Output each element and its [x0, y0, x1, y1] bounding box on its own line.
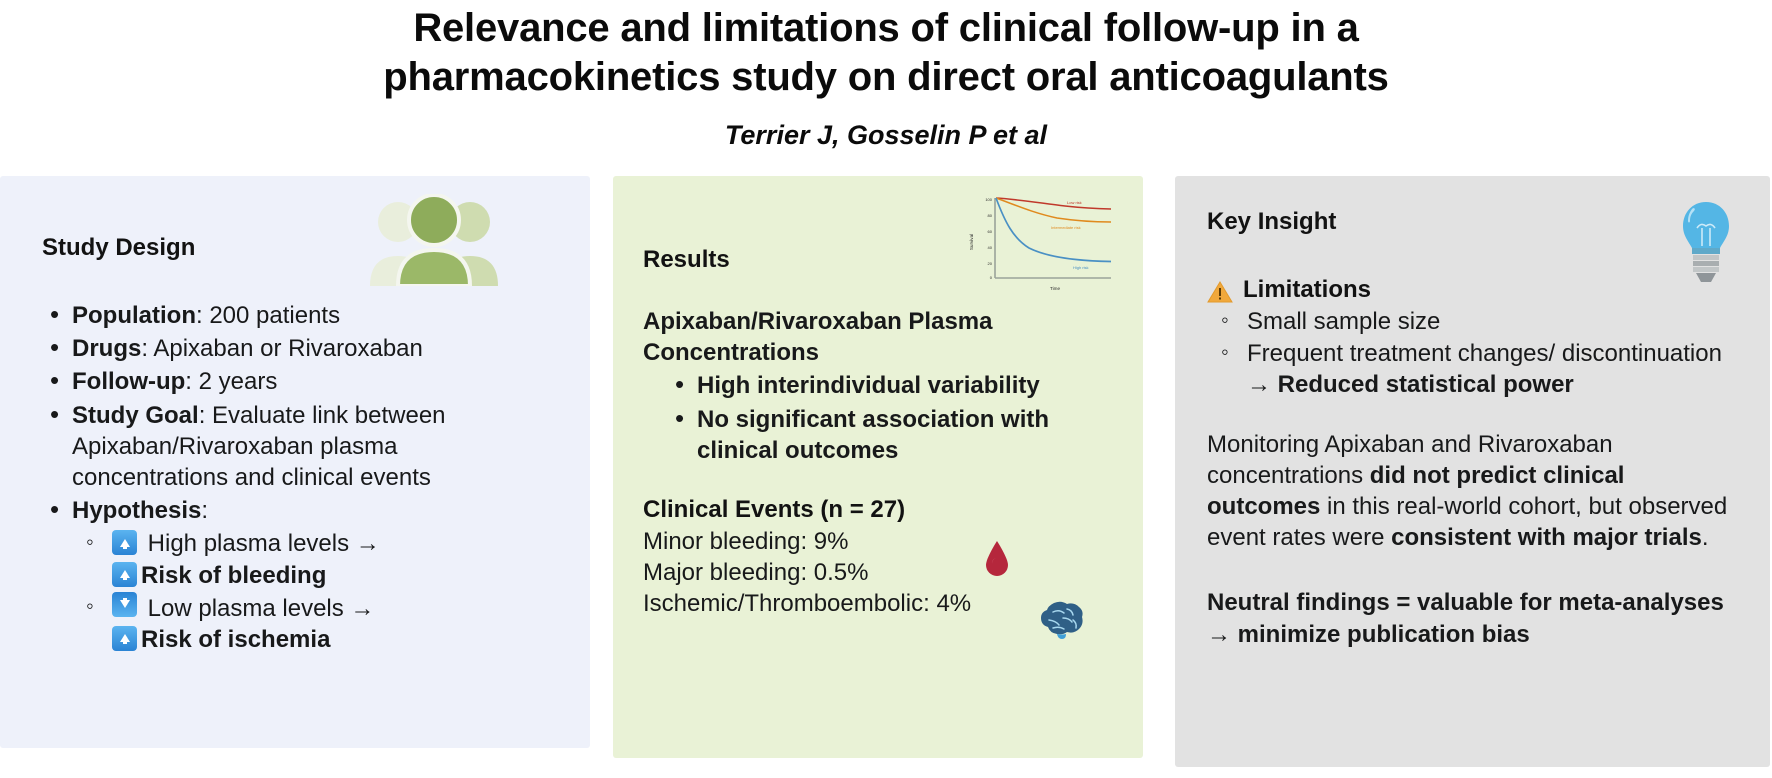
brain-icon	[1037, 596, 1089, 640]
item-label: Follow-up	[72, 368, 185, 395]
item-label: Drugs	[72, 335, 141, 362]
para-part: .	[1702, 524, 1709, 551]
warning-triangle-icon	[1207, 280, 1233, 304]
svg-text:Intermediate risk: Intermediate risk	[1051, 225, 1081, 230]
limitations-row: Limitations	[1207, 276, 1736, 304]
hypothesis-bold: Risk of bleeding	[141, 562, 326, 589]
event-row: Major bleeding: 0.5%	[643, 557, 1117, 588]
results-panel: 100 80 60 40 20 0 Survival Time Low risk…	[613, 176, 1143, 758]
limitations-label: Limitations	[1243, 276, 1371, 304]
list-item: High interindividual variability	[667, 370, 1117, 401]
list-item: Drugs: Apixaban or Rivaroxaban	[42, 333, 550, 364]
lightbulb-icon	[1678, 198, 1734, 294]
poster-canvas: Relevance and limitations of clinical fo…	[0, 0, 1772, 778]
down-arrow-emoji	[112, 592, 137, 617]
limitation-text: Small sample size	[1247, 308, 1440, 335]
hypothesis-bold: Risk of ischemia	[141, 626, 330, 653]
list-item: Population: 200 patients	[42, 300, 550, 331]
list-item: Frequent treatment changes/ discontinuat…	[1207, 338, 1736, 400]
svg-text:40: 40	[988, 245, 993, 250]
para-bold: consistent with major trials	[1391, 524, 1702, 551]
survival-curve-chart: 100 80 60 40 20 0 Survival Time Low risk…	[955, 190, 1115, 298]
poster-header: Relevance and limitations of clinical fo…	[0, 0, 1772, 151]
key-insight-panel: Key Insight Limitations Small sample siz…	[1175, 176, 1770, 767]
item-value: Apixaban or Rivaroxaban	[153, 335, 423, 362]
item-label: Hypothesis	[72, 497, 201, 524]
authors-subtitle: Terrier J, Gosselin P et al	[0, 120, 1772, 151]
clinical-events-heading: Clinical Events (n = 27)	[643, 496, 1117, 524]
list-item: Small sample size	[1207, 306, 1736, 337]
results-bullet-list: High interindividual variability No sign…	[643, 370, 1117, 466]
up-arrow-emoji	[112, 530, 137, 555]
event-value: 4%	[936, 590, 971, 617]
svg-text:Time: Time	[1050, 286, 1060, 291]
svg-text:100: 100	[985, 197, 992, 202]
list-item: Low plasma levels → Risk of ischemia	[72, 592, 550, 655]
limitations-list: Small sample size Frequent treatment cha…	[1207, 306, 1736, 401]
svg-text:20: 20	[988, 261, 993, 266]
up-arrow-emoji	[112, 562, 137, 587]
key-insight-closing: Neutral findings = valuable for meta-ana…	[1207, 587, 1736, 649]
hypothesis-text: Low plasma levels →	[148, 595, 375, 622]
svg-text:Low risk: Low risk	[1067, 200, 1082, 205]
svg-text:High risk: High risk	[1073, 265, 1089, 270]
results-subheading: Apixaban/Rivaroxaban Plasma Concentratio…	[643, 306, 1117, 368]
bullet-bold: High interindividual variability	[697, 372, 1040, 399]
event-label: Major bleeding	[643, 559, 800, 586]
svg-text:80: 80	[988, 213, 993, 218]
list-item-hypothesis: Hypothesis: High plasma levels → Risk of…	[42, 495, 550, 655]
event-row: Minor bleeding: 9%	[643, 526, 1117, 557]
item-value: 200 patients	[209, 302, 340, 329]
item-value: 2 years	[199, 368, 278, 395]
event-label: Ischemic/Thromboembolic	[643, 590, 923, 617]
list-item: No significant association with clinical…	[667, 404, 1117, 466]
clinical-events-block: Clinical Events (n = 27) Minor bleeding:…	[643, 496, 1117, 620]
hypothesis-text: High plasma levels →	[148, 530, 380, 557]
event-value: 9%	[814, 528, 849, 555]
item-label: Population	[72, 302, 196, 329]
hypothesis-list: High plasma levels → Risk of bleeding Lo…	[72, 528, 550, 655]
limitation-bold: Reduced statistical power	[1278, 371, 1574, 398]
up-arrow-emoji	[112, 626, 137, 651]
key-insight-heading: Key Insight	[1207, 208, 1736, 236]
event-label: Minor bleeding	[643, 528, 800, 555]
svg-text:60: 60	[988, 229, 993, 234]
list-item: Study Goal: Evaluate link between Apixab…	[42, 400, 550, 494]
page-title: Relevance and limitations of clinical fo…	[321, 4, 1451, 102]
bullet-bold: No significant association	[697, 406, 994, 433]
study-design-list: Population: 200 patients Drugs: Apixaban…	[42, 300, 550, 655]
key-insight-paragraph: Monitoring Apixaban and Rivaroxaban conc…	[1207, 429, 1736, 554]
list-item: High plasma levels → Risk of bleeding	[72, 528, 550, 590]
blood-drop-icon	[983, 540, 1011, 578]
svg-text:0: 0	[990, 275, 993, 280]
item-label: Study Goal	[72, 402, 199, 429]
panel-row: Study Design Population: 200 patients Dr…	[0, 176, 1772, 767]
svg-text:Survival: Survival	[969, 234, 974, 250]
people-group-icon	[364, 194, 504, 286]
event-value: 0.5%	[814, 559, 869, 586]
list-item: Follow-up: 2 years	[42, 366, 550, 397]
study-design-panel: Study Design Population: 200 patients Dr…	[0, 176, 590, 748]
